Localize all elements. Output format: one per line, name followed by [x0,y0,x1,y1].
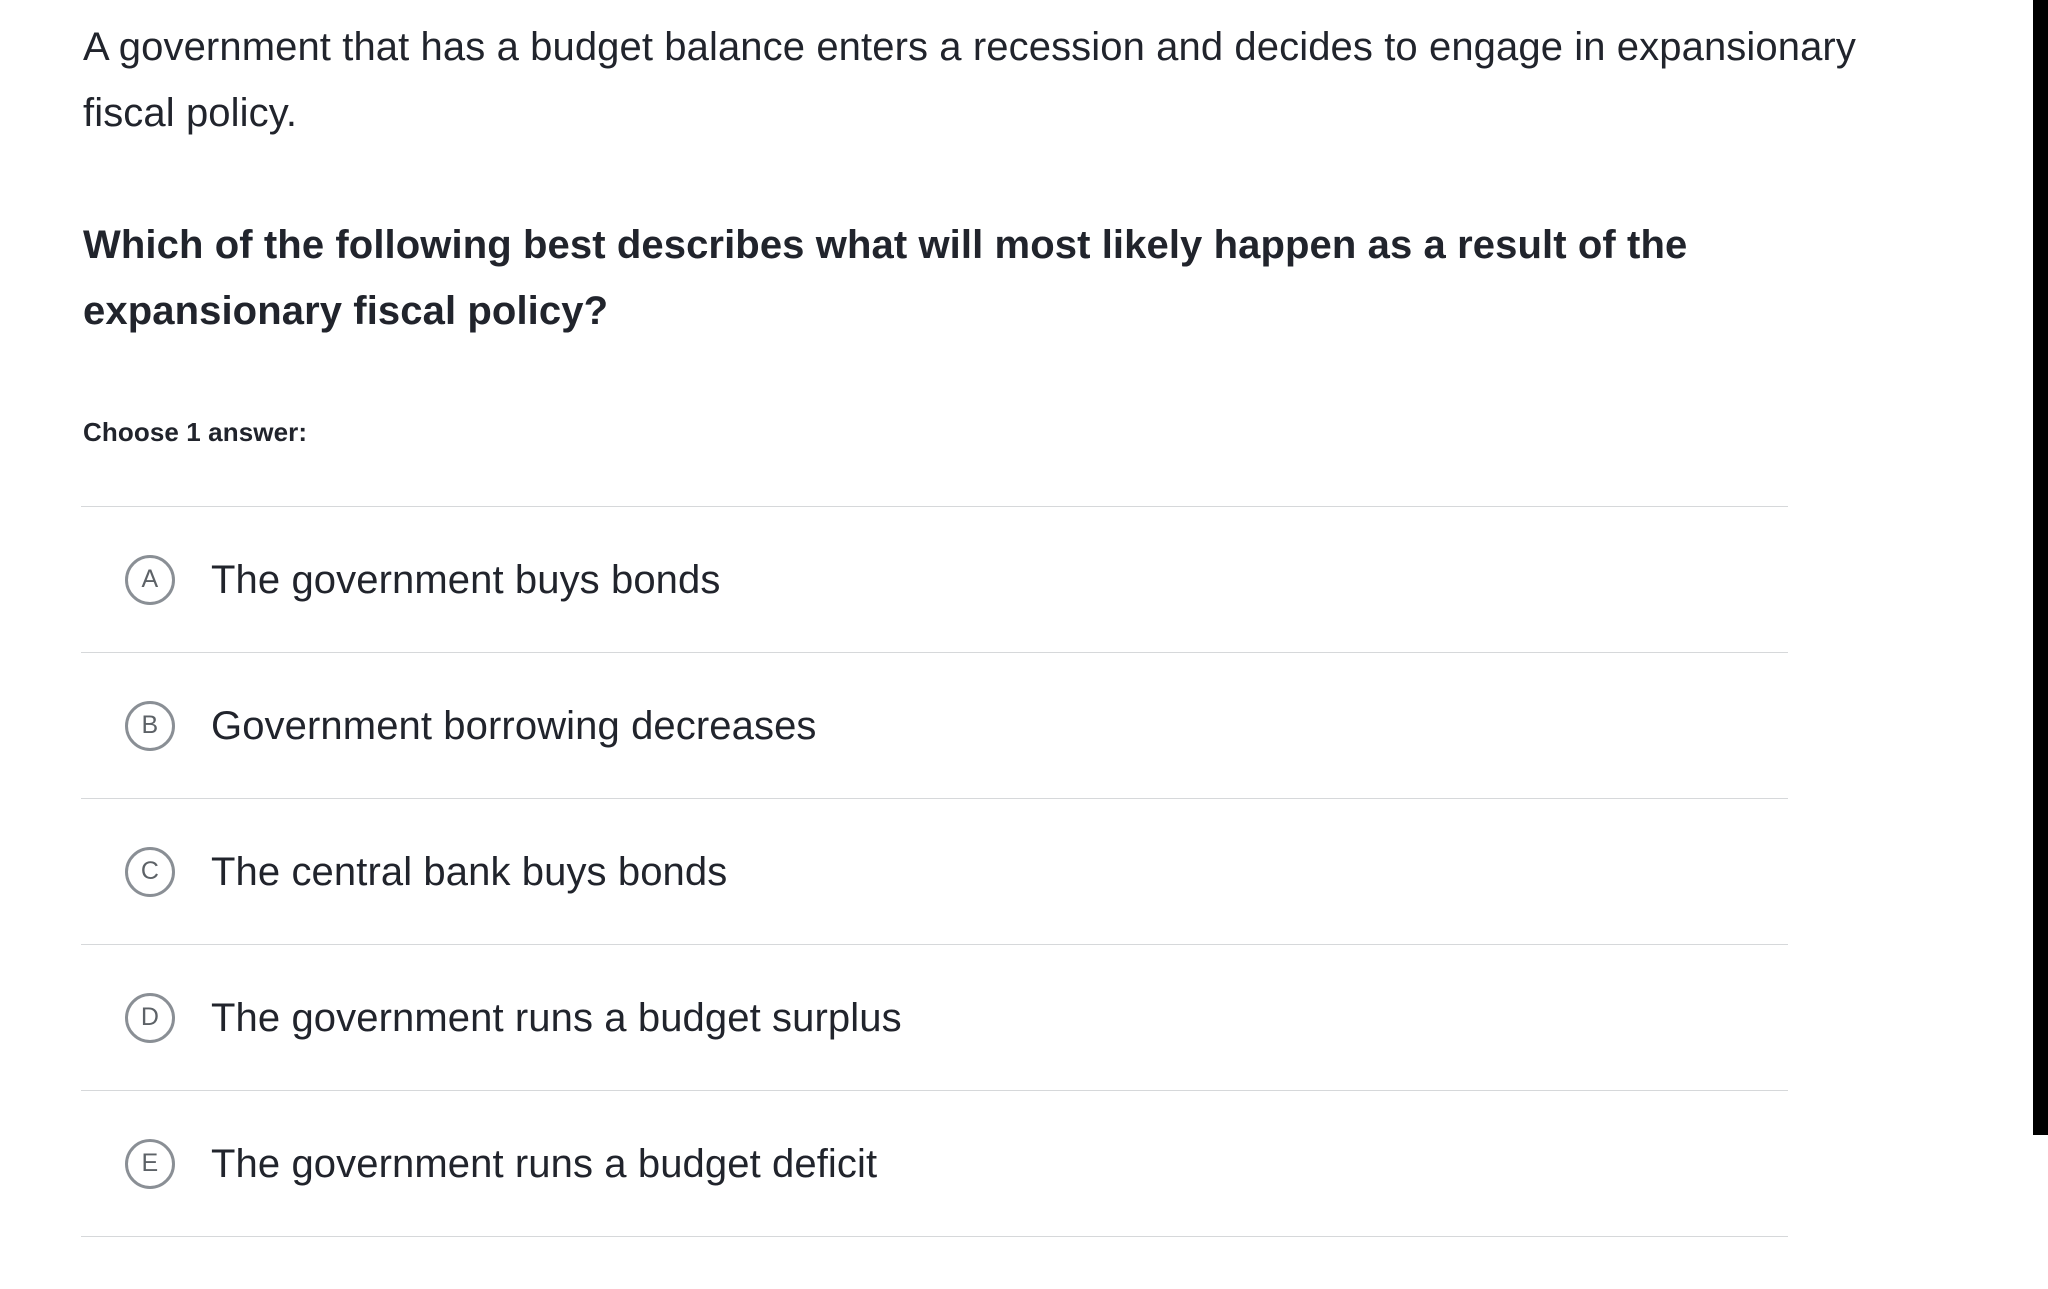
answer-letter-a: A [142,567,159,592]
choose-answer-label: Choose 1 answer: [83,415,307,449]
answer-choice-list: A The government buys bonds B Government… [81,506,1788,1237]
stem-context-text: A government that has a budget balance e… [83,14,1863,146]
answer-text-d: The government runs a budget surplus [211,992,902,1044]
stem-question-text: Which of the following best describes wh… [83,146,1863,344]
answer-letter-b: B [142,713,159,738]
answer-letter-c: C [141,859,159,884]
answer-choice-e[interactable]: E The government runs a budget deficit [81,1091,1788,1236]
question-root: A government that has a budget balance e… [0,0,2048,1289]
question-stem: A government that has a budget balance e… [83,14,1863,344]
answer-letter-badge-b[interactable]: B [125,701,175,751]
answer-letter-badge-e[interactable]: E [125,1139,175,1189]
answer-choice-b[interactable]: B Government borrowing decreases [81,653,1788,798]
answer-divider [81,1236,1788,1237]
answer-letter-e: E [142,1151,159,1176]
answer-text-a: The government buys bonds [211,554,720,606]
answer-choice-c[interactable]: C The central bank buys bonds [81,799,1788,944]
answer-text-b: Government borrowing decreases [211,700,817,752]
right-edge-strip [2033,0,2048,1135]
answer-letter-badge-a[interactable]: A [125,555,175,605]
answer-text-c: The central bank buys bonds [211,846,727,898]
answer-choice-d[interactable]: D The government runs a budget surplus [81,945,1788,1090]
answer-choice-a[interactable]: A The government buys bonds [81,507,1788,652]
answer-text-e: The government runs a budget deficit [211,1138,877,1190]
answer-letter-badge-d[interactable]: D [125,993,175,1043]
answer-letter-badge-c[interactable]: C [125,847,175,897]
answer-letter-d: D [141,1005,159,1030]
